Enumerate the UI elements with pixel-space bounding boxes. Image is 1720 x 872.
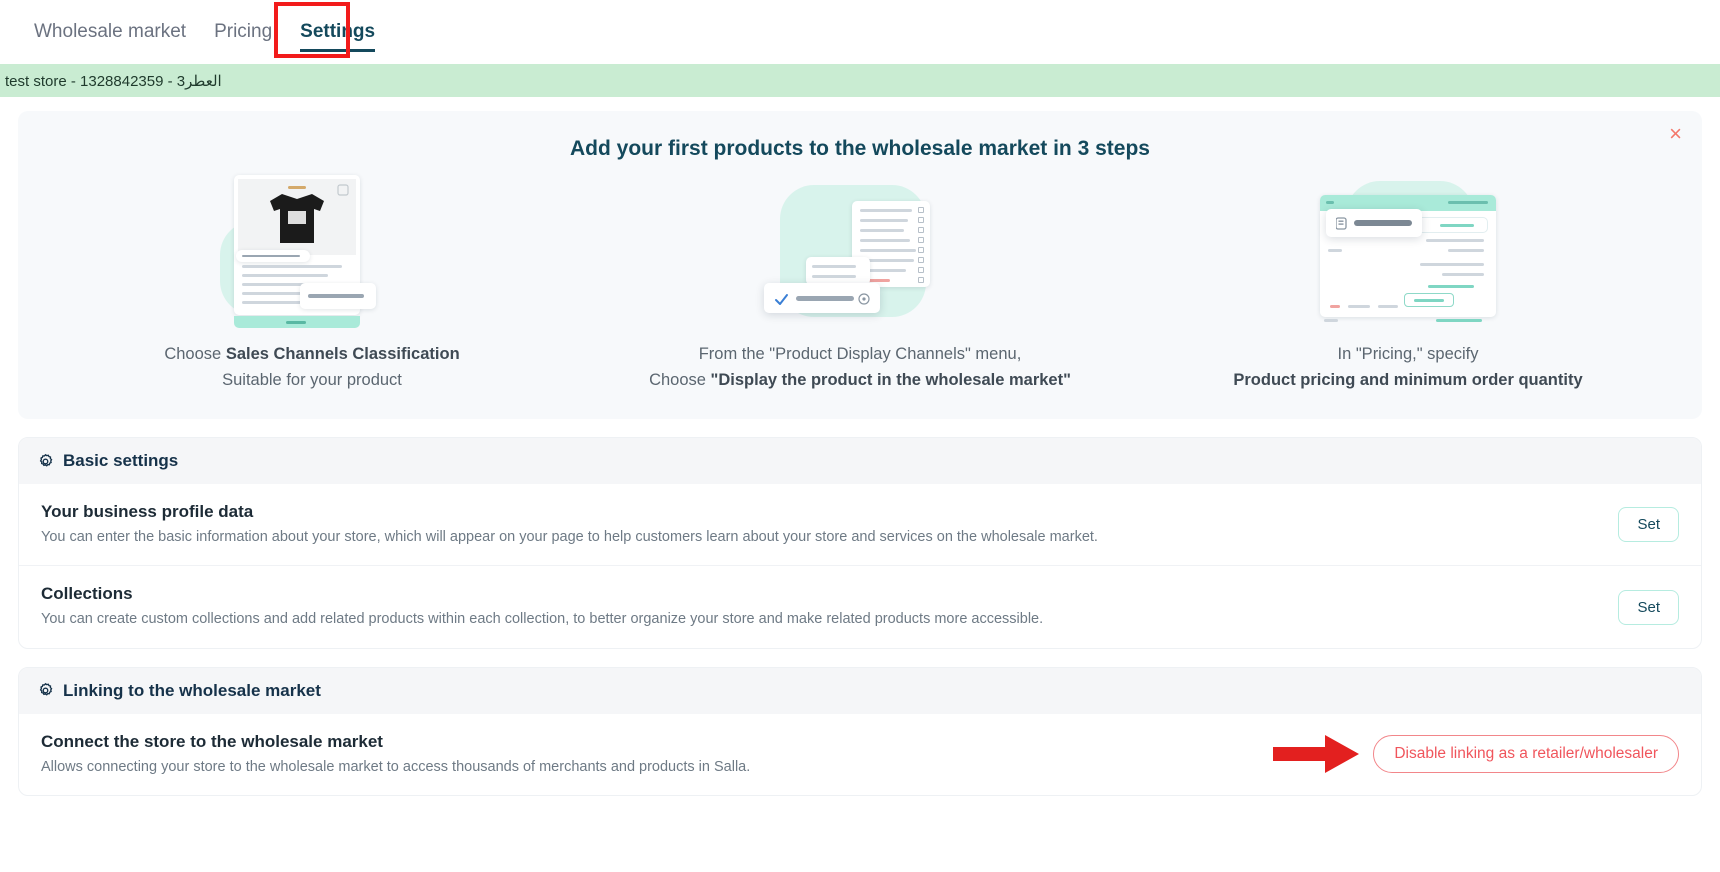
close-icon[interactable]: ×: [1669, 123, 1682, 145]
row-title: Your business profile data: [41, 502, 1600, 522]
onboarding-step-3: In "Pricing," specify Product pricing an…: [1134, 173, 1682, 393]
row-description: You can enter the basic information abou…: [41, 527, 1600, 547]
linking-settings-panel: Linking to the wholesale market Connect …: [18, 667, 1702, 796]
gear-icon: [37, 453, 54, 470]
tab-label: Settings: [300, 21, 375, 42]
settings-row-collections: Collections You can create custom collec…: [19, 565, 1701, 647]
tab-label: Pricing: [214, 21, 272, 42]
tab-label: Wholesale market: [34, 21, 186, 42]
basic-settings-header: Basic settings: [19, 438, 1701, 484]
step-1-illustration: [212, 173, 412, 328]
basic-settings-panel: Basic settings Your business profile dat…: [18, 437, 1702, 649]
step-1-line2: Suitable for your product: [164, 368, 459, 394]
active-tab-underline: [300, 49, 375, 52]
step-2-line1: From the "Product Display Channels" menu…: [649, 342, 1071, 368]
step-3-illustration: [1308, 173, 1508, 328]
store-name-strip: test store - 1328842359 - العطر3: [0, 64, 1720, 97]
step-2-line2-bold: "Display the product in the wholesale ma…: [711, 371, 1071, 389]
linking-settings-header: Linking to the wholesale market: [19, 668, 1701, 714]
gear-icon: [37, 682, 54, 699]
step-3-line1: In "Pricing," specify: [1233, 342, 1582, 368]
panel-header-label: Linking to the wholesale market: [63, 681, 321, 701]
step-3-text: In "Pricing," specify Product pricing an…: [1233, 342, 1582, 393]
onboarding-title: Add your first products to the wholesale…: [38, 137, 1682, 161]
row-title: Connect the store to the wholesale marke…: [41, 732, 1253, 752]
step-1-text: Choose Sales Channels Classification Sui…: [164, 342, 459, 393]
row-content: Your business profile data You can enter…: [41, 502, 1600, 547]
annotation-arrow-icon: [1271, 733, 1361, 775]
onboarding-step-2: From the "Product Display Channels" menu…: [586, 173, 1134, 393]
row-description: Allows connecting your store to the whol…: [41, 757, 1253, 777]
step-3-line2-bold: Product pricing and minimum order quanti…: [1233, 371, 1582, 389]
panel-header-label: Basic settings: [63, 451, 178, 471]
step-2-illustration: [760, 173, 960, 328]
tab-wholesale-market[interactable]: Wholesale market: [20, 0, 200, 64]
step-1-line1-bold: Sales Channels Classification: [226, 345, 460, 363]
row-description: You can create custom collections and ad…: [41, 609, 1600, 629]
step-1-line1-prefix: Choose: [164, 345, 225, 363]
step-2-line2-prefix: Choose: [649, 371, 710, 389]
tab-settings[interactable]: Settings: [286, 0, 389, 64]
row-content: Connect the store to the wholesale marke…: [41, 732, 1253, 777]
tab-pricing[interactable]: Pricing: [200, 0, 286, 64]
settings-row-business-profile: Your business profile data You can enter…: [19, 484, 1701, 565]
set-business-profile-button[interactable]: Set: [1618, 507, 1679, 542]
settings-row-connect-store: Connect the store to the wholesale marke…: [19, 714, 1701, 795]
store-name-text: test store - 1328842359 - العطر3: [5, 72, 222, 90]
onboarding-step-1: Choose Sales Channels Classification Sui…: [38, 173, 586, 393]
set-collections-button[interactable]: Set: [1618, 590, 1679, 625]
row-content: Collections You can create custom collec…: [41, 584, 1600, 629]
disable-linking-button[interactable]: Disable linking as a retailer/wholesaler: [1373, 735, 1679, 773]
page-body: Add your first products to the wholesale…: [0, 111, 1720, 796]
onboarding-steps: Choose Sales Channels Classification Sui…: [38, 173, 1682, 393]
onboarding-banner: Add your first products to the wholesale…: [18, 111, 1702, 419]
row-title: Collections: [41, 584, 1600, 604]
step-2-text: From the "Product Display Channels" menu…: [649, 342, 1071, 393]
top-tab-bar: Wholesale market Pricing Settings: [0, 0, 1720, 64]
